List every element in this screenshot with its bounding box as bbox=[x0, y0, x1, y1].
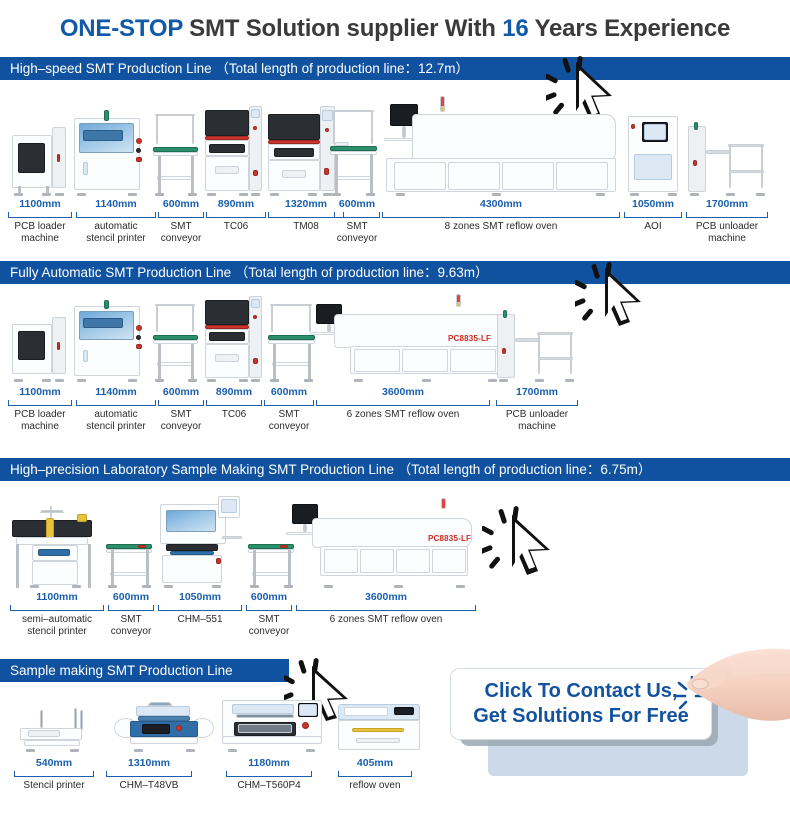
machine-pcb-unloader bbox=[497, 310, 579, 382]
dimension-row-fully-automatic: 1100mm PCB loader machine 1140mm automat… bbox=[0, 386, 790, 428]
dimension-caption: Stencil printer bbox=[14, 780, 94, 792]
dimension-bracket bbox=[296, 605, 476, 611]
cta-area[interactable]: Click To Contact Us, Get Solutions For F… bbox=[448, 650, 790, 815]
dimension-bracket bbox=[246, 605, 292, 611]
dimension-caption: SMT conveyor bbox=[246, 614, 292, 637]
dimension-row-high-speed: 1100mm PCB loader machine 1140mm automat… bbox=[0, 198, 790, 240]
dimension-item: 600mm SMT conveyor bbox=[158, 198, 204, 244]
dimension-bracket bbox=[106, 771, 192, 777]
dimension-item: 1180mm CHM–T560P4 bbox=[226, 757, 312, 792]
dimension-caption: SMT conveyor bbox=[158, 221, 204, 244]
dimension-value: 4300mm bbox=[382, 198, 620, 211]
dimension-caption: TC06 bbox=[206, 221, 266, 233]
dimension-value: 1100mm bbox=[10, 591, 104, 604]
cta-line-1: Click To Contact Us, bbox=[485, 679, 678, 704]
machine-strip-sample-making bbox=[0, 690, 450, 752]
dimension-item: 3600mm 6 zones SMT reflow oven bbox=[296, 591, 476, 626]
dimension-item: 600mm SMT conveyor bbox=[108, 591, 154, 637]
dimension-bracket bbox=[226, 771, 312, 777]
dimension-caption: reflow oven bbox=[338, 780, 412, 792]
dimension-caption: PCB loader machine bbox=[8, 409, 72, 432]
dimension-value: 540mm bbox=[14, 757, 94, 770]
machine-tc06 bbox=[203, 106, 263, 196]
dimension-row-sample-making: 540mm Stencil printer 1310mm CHM–T48VB 1… bbox=[0, 757, 450, 799]
dimension-value: 3600mm bbox=[316, 386, 490, 399]
dimension-bracket bbox=[8, 212, 72, 218]
dimension-caption: automatic stencil printer bbox=[76, 409, 156, 432]
section-header-high-precision-lab: High–precision Laboratory Sample Making … bbox=[0, 458, 790, 481]
dimension-value: 1100mm bbox=[8, 198, 72, 211]
machine-smt-conveyor-2 bbox=[330, 110, 380, 196]
dimension-item: 1700mm PCB unloader machine bbox=[686, 198, 768, 244]
dimension-caption: CHM–T48VB bbox=[106, 780, 192, 792]
dimension-item: 890mm TC06 bbox=[206, 386, 262, 421]
pointing-hand-icon bbox=[670, 648, 790, 752]
dimension-caption: PCB loader machine bbox=[8, 221, 72, 244]
dimension-caption: automatic stencil printer bbox=[76, 221, 156, 244]
dimension-caption: SMT conveyor bbox=[264, 409, 314, 432]
dimension-item: 890mm TC06 bbox=[206, 198, 266, 233]
dimension-row-high-precision-lab: 1100mm semi–automatic stencil printer 60… bbox=[0, 591, 790, 633]
dimension-bracket bbox=[382, 212, 620, 218]
machine-smt-conveyor-1 bbox=[153, 114, 200, 196]
machine-strip-high-speed bbox=[0, 84, 790, 196]
title-highlight-one-stop: ONE-STOP bbox=[60, 15, 183, 42]
dimension-item: 600mm SMT conveyor bbox=[246, 591, 292, 637]
title-tail-text: Years Experience bbox=[529, 15, 731, 42]
dimension-value: 1100mm bbox=[8, 386, 72, 399]
dimension-item: 600mm SMT conveyor bbox=[334, 198, 380, 244]
dimension-bracket bbox=[686, 212, 768, 218]
machine-semi-automatic-stencil-printer bbox=[10, 504, 100, 588]
dimension-item: 1050mm CHM–551 bbox=[158, 591, 242, 626]
dimension-item: 4300mm 8 zones SMT reflow oven bbox=[382, 198, 620, 233]
dimension-value: 1180mm bbox=[226, 757, 312, 770]
dimension-bracket bbox=[158, 400, 204, 406]
dimension-caption: TC06 bbox=[206, 409, 262, 421]
dimension-item: 1140mm automatic stencil printer bbox=[76, 386, 156, 432]
dimension-bracket bbox=[334, 212, 380, 218]
machine-tc06 bbox=[203, 296, 263, 382]
dimension-bracket bbox=[14, 771, 94, 777]
dimension-value: 1310mm bbox=[106, 757, 192, 770]
machine-8-zone-reflow-oven bbox=[382, 96, 618, 196]
dimension-item: 405mm reflow oven bbox=[338, 757, 412, 792]
dimension-value: 3600mm bbox=[296, 591, 476, 604]
dimension-value: 405mm bbox=[338, 757, 412, 770]
dimension-item: 1310mm CHM–T48VB bbox=[106, 757, 192, 792]
page-title: ONE-STOP SMT Solution supplier With 16 Y… bbox=[0, 10, 790, 48]
dimension-bracket bbox=[624, 212, 682, 218]
machine-strip-high-precision-lab: PC8835-LF bbox=[0, 488, 790, 588]
dimension-caption: TM08 bbox=[268, 221, 344, 233]
machine-automatic-stencil-printer bbox=[74, 110, 146, 196]
dimension-bracket bbox=[8, 400, 72, 406]
cta-line-2: Get Solutions For Free bbox=[473, 704, 689, 729]
dimension-item: 1100mm PCB loader machine bbox=[8, 198, 72, 244]
dimension-caption: SMT conveyor bbox=[158, 409, 204, 432]
dimension-item: 1700mm PCB unloader machine bbox=[496, 386, 578, 432]
dimension-item: 1100mm PCB loader machine bbox=[8, 386, 72, 432]
dimension-bracket bbox=[338, 771, 412, 777]
dimension-value: 1700mm bbox=[496, 386, 578, 399]
dimension-caption: semi–automatic stencil printer bbox=[10, 614, 104, 637]
dimension-bracket bbox=[10, 605, 104, 611]
machine-smt-conveyor-1 bbox=[153, 304, 200, 382]
machine-stencil-printer bbox=[18, 706, 92, 752]
dimension-caption: AOI bbox=[624, 221, 682, 233]
dimension-value: 600mm bbox=[158, 386, 204, 399]
dimension-value: 1050mm bbox=[158, 591, 242, 604]
dimension-value: 600mm bbox=[264, 386, 314, 399]
dimension-bracket bbox=[264, 400, 314, 406]
machine-chm-t48vb bbox=[108, 700, 218, 752]
section-header-sample-making: Sample making SMT Production Line bbox=[0, 659, 289, 682]
dimension-bracket bbox=[108, 605, 154, 611]
dimension-value: 600mm bbox=[334, 198, 380, 211]
dimension-item: 1320mm TM08 bbox=[268, 198, 344, 233]
dimension-caption: 6 zones SMT reflow oven bbox=[296, 614, 476, 626]
dimension-item: 1100mm semi–automatic stencil printer bbox=[10, 591, 104, 637]
machine-pcb-loader bbox=[8, 121, 68, 196]
machine-smt-conveyor-1 bbox=[106, 522, 154, 588]
dimension-bracket bbox=[206, 212, 266, 218]
dimension-value: 890mm bbox=[206, 198, 266, 211]
dimension-item: 1140mm automatic stencil printer bbox=[76, 198, 156, 244]
dimension-caption: CHM–551 bbox=[158, 614, 242, 626]
machine-automatic-stencil-printer bbox=[74, 300, 146, 382]
machine-chm-551 bbox=[160, 496, 244, 588]
dimension-bracket bbox=[268, 212, 344, 218]
machine-reflow-oven bbox=[338, 704, 422, 752]
title-middle-text: SMT Solution supplier With bbox=[183, 15, 503, 42]
machine-6-zone-reflow-oven: PC8835-LF bbox=[286, 498, 476, 588]
dimension-caption: PCB unloader machine bbox=[496, 409, 578, 432]
dimension-value: 1320mm bbox=[268, 198, 344, 211]
dimension-value: 890mm bbox=[206, 386, 262, 399]
machine-6-zone-reflow-oven: PC8835-LF bbox=[310, 290, 518, 382]
dimension-value: 1700mm bbox=[686, 198, 768, 211]
dimension-value: 600mm bbox=[108, 591, 154, 604]
dimension-item: 1050mm AOI bbox=[624, 198, 682, 233]
dimension-bracket bbox=[76, 400, 156, 406]
promo-poster: ONE-STOP SMT Solution supplier With 16 Y… bbox=[0, 0, 790, 815]
dimension-value: 1140mm bbox=[76, 386, 156, 399]
dimension-bracket bbox=[158, 605, 242, 611]
section-header-high-speed: High–speed SMT Production Line （Total le… bbox=[0, 57, 790, 80]
oven-model-label: PC8835-LF bbox=[448, 334, 491, 343]
machine-chm-t560p4 bbox=[222, 690, 326, 752]
dimension-value: 600mm bbox=[246, 591, 292, 604]
machine-pcb-unloader bbox=[688, 120, 770, 196]
dimension-caption: PCB unloader machine bbox=[686, 221, 768, 244]
dimension-caption: 8 zones SMT reflow oven bbox=[382, 221, 620, 233]
title-highlight-years: 16 bbox=[502, 15, 528, 42]
oven-model-label: PC8835-LF bbox=[428, 534, 471, 543]
dimension-bracket bbox=[496, 400, 578, 406]
dimension-bracket bbox=[158, 212, 204, 218]
dimension-bracket bbox=[316, 400, 490, 406]
machine-aoi bbox=[628, 112, 684, 196]
dimension-item: 3600mm 6 zones SMT reflow oven bbox=[316, 386, 490, 421]
dimension-bracket bbox=[206, 400, 262, 406]
dimension-bracket bbox=[76, 212, 156, 218]
machine-strip-fully-automatic: PC8835-LF bbox=[0, 288, 790, 382]
dimension-value: 1140mm bbox=[76, 198, 156, 211]
dimension-value: 600mm bbox=[158, 198, 204, 211]
dimension-value: 1050mm bbox=[624, 198, 682, 211]
dimension-caption: SMT conveyor bbox=[108, 614, 154, 637]
dimension-item: 600mm SMT conveyor bbox=[158, 386, 204, 432]
machine-pcb-loader bbox=[8, 312, 68, 382]
dimension-caption: SMT conveyor bbox=[334, 221, 380, 244]
dimension-caption: 6 zones SMT reflow oven bbox=[316, 409, 490, 421]
dimension-item: 540mm Stencil printer bbox=[14, 757, 94, 792]
dimension-item: 600mm SMT conveyor bbox=[264, 386, 314, 432]
dimension-caption: CHM–T560P4 bbox=[226, 780, 312, 792]
